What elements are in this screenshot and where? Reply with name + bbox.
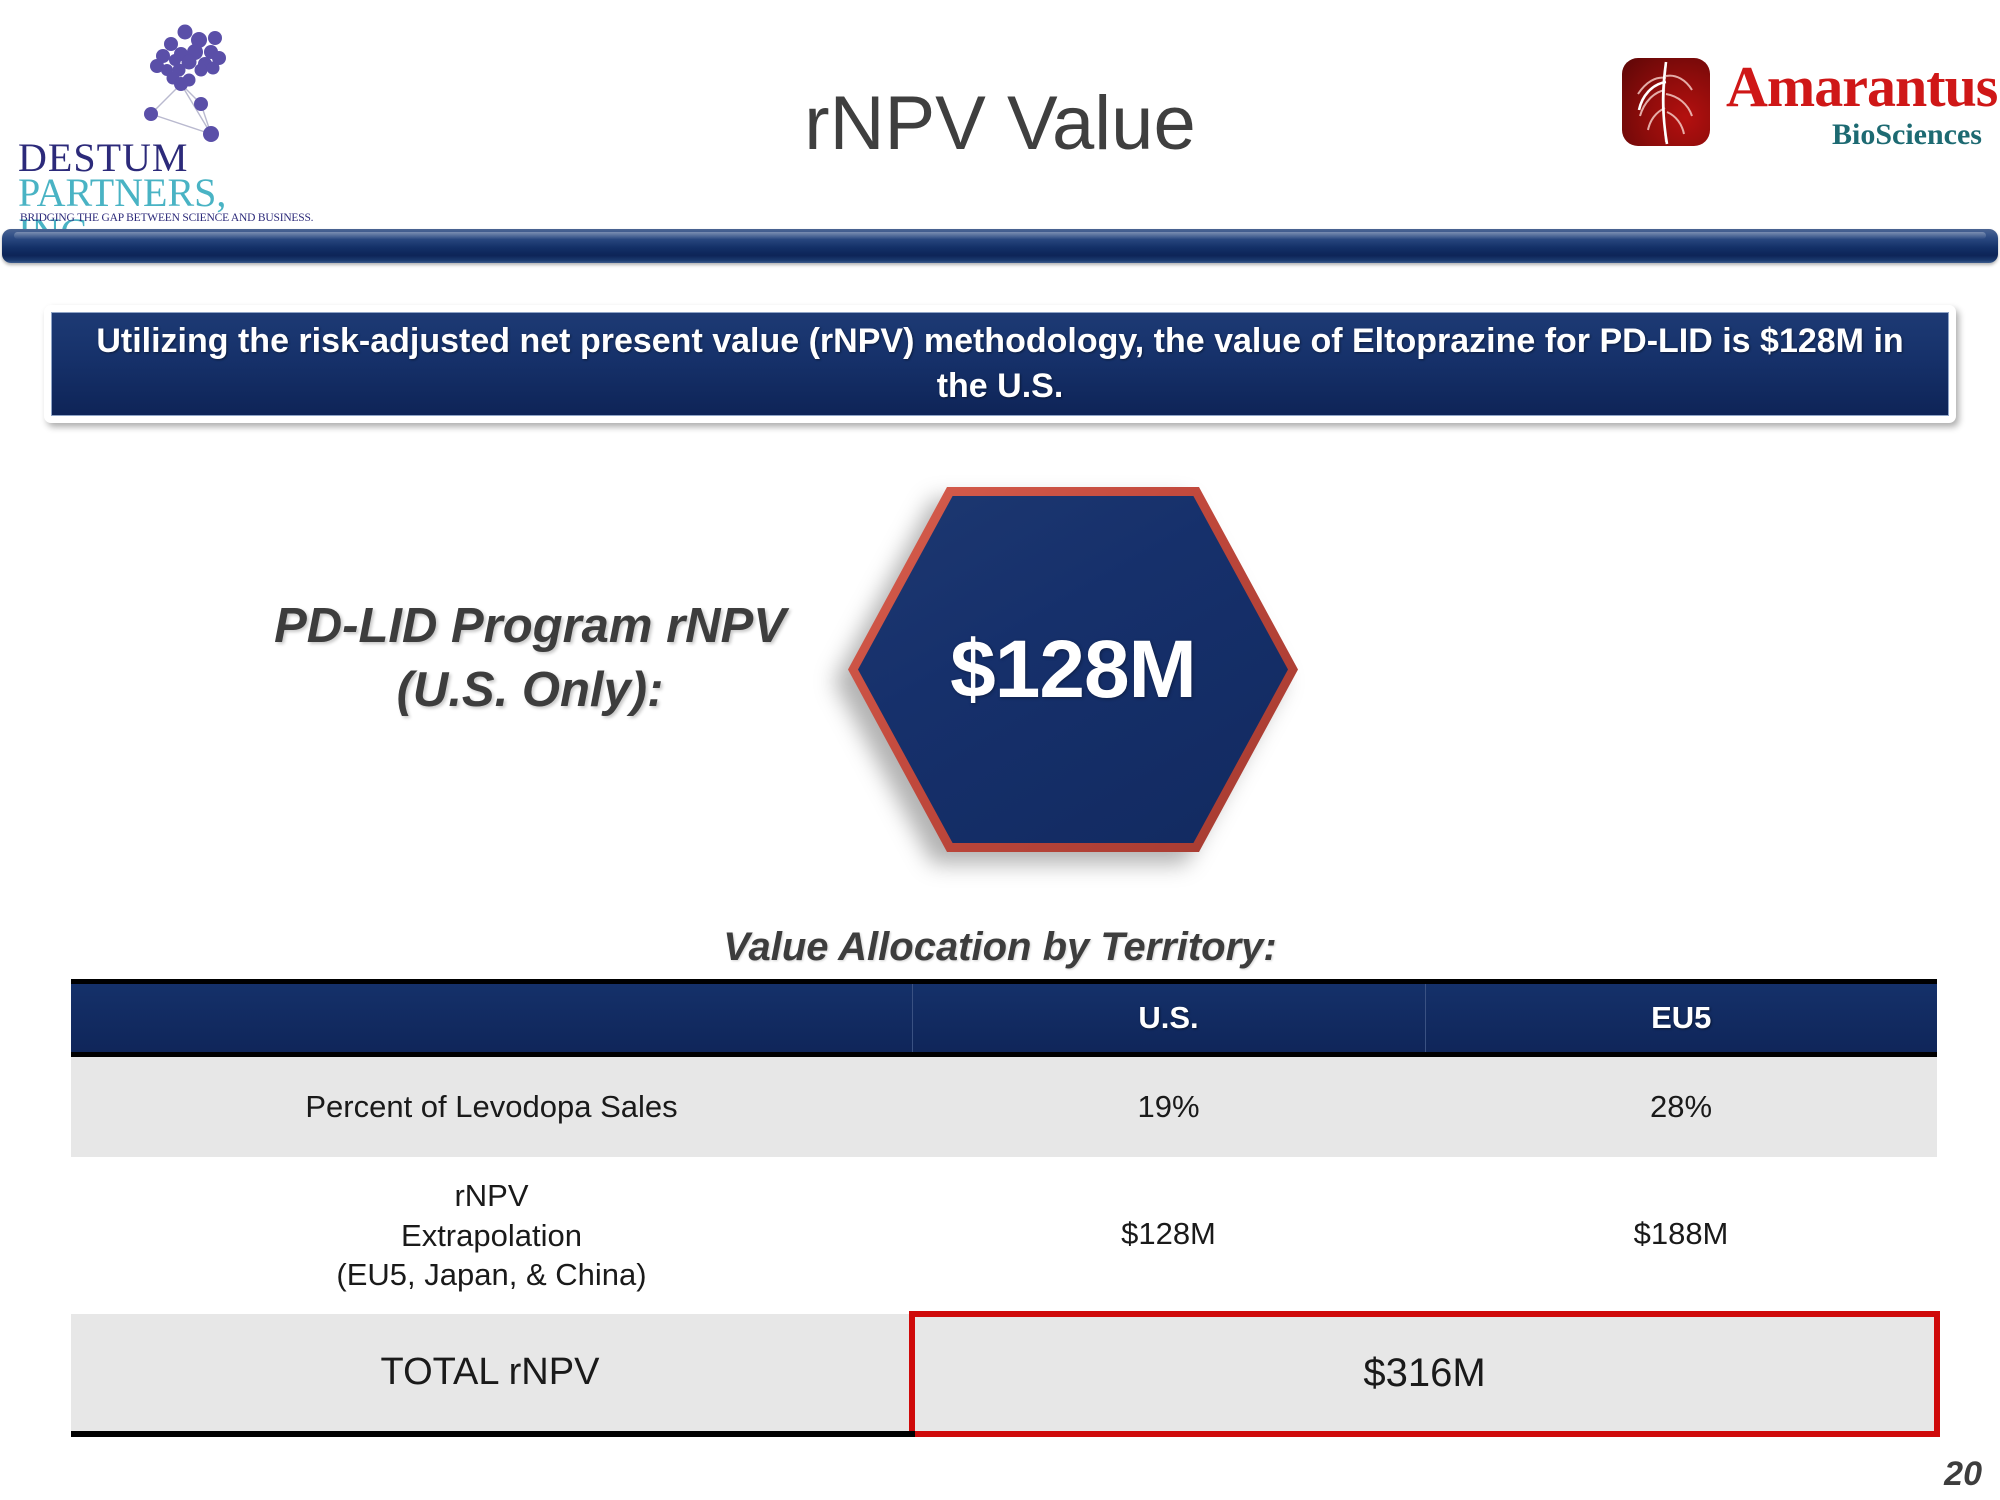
slide-header: DESTUM PARTNERS, INC. BRIDGING THE GAP B… (0, 0, 2000, 230)
amarantus-logo-subtitle: BioSciences (1726, 120, 1982, 150)
header-divider-bar (2, 229, 1998, 263)
column-header-blank (71, 982, 912, 1055)
hexagon-value-text: $128M (950, 623, 1196, 717)
table-row-total: TOTAL rNPV $316M (71, 1314, 1937, 1434)
value-allocation-title: Value Allocation by Territory: (0, 925, 2000, 970)
row-label-total-rnpv: TOTAL rNPV (71, 1314, 912, 1434)
row-label-percent-levodopa: Percent of Levodopa Sales (71, 1055, 912, 1158)
row-value-rnpv-extrapolation-us: $128M (912, 1157, 1425, 1314)
program-rnpv-label: PD-LID Program rNPV (U.S. Only): (250, 595, 810, 722)
headline-banner-text: Utilizing the risk-adjusted net present … (52, 319, 1948, 409)
page-title: rNPV Value (600, 80, 1400, 167)
column-header-eu5: EU5 (1425, 982, 1937, 1055)
destum-logo-tagline: BRIDGING THE GAP BETWEEN SCIENCE AND BUS… (20, 212, 310, 224)
table-body: Percent of Levodopa Sales 19% 28% rNPVEx… (71, 1055, 1937, 1435)
row-value-percent-levodopa-us: 19% (912, 1055, 1425, 1158)
amarantus-logo-name: Amarantus (1726, 58, 1997, 116)
value-allocation-table: U.S. EU5 Percent of Levodopa Sales 19% 2… (71, 979, 1940, 1437)
page-number: 20 (1944, 1455, 1982, 1494)
molecule-network-icon (123, 22, 263, 152)
leaf-veins-icon (1622, 58, 1710, 146)
row-label-rnpv-extrapolation: rNPVExtrapolation(EU5, Japan, & China) (71, 1157, 912, 1314)
amarantus-biosciences-logo: Amarantus BioSciences (1622, 48, 1982, 158)
table-header: U.S. EU5 (71, 982, 1937, 1055)
headline-banner-inner: Utilizing the risk-adjusted net present … (51, 312, 1949, 416)
destum-partners-logo: DESTUM PARTNERS, INC. BRIDGING THE GAP B… (18, 20, 308, 210)
row-value-percent-levodopa-eu5: 28% (1425, 1055, 1937, 1158)
headline-banner: Utilizing the risk-adjusted net present … (44, 305, 1956, 423)
table-header-row: U.S. EU5 (71, 982, 1937, 1055)
rnpv-value-hexagon: $128M (848, 487, 1298, 852)
row-value-total-rnpv: $316M (912, 1314, 1937, 1434)
divider-bar-gloss (14, 232, 1986, 239)
column-header-us: U.S. (912, 982, 1425, 1055)
row-value-rnpv-extrapolation-eu5: $188M (1425, 1157, 1937, 1314)
table-row: rNPVExtrapolation(EU5, Japan, & China) $… (71, 1157, 1937, 1314)
table-row: Percent of Levodopa Sales 19% 28% (71, 1055, 1937, 1158)
